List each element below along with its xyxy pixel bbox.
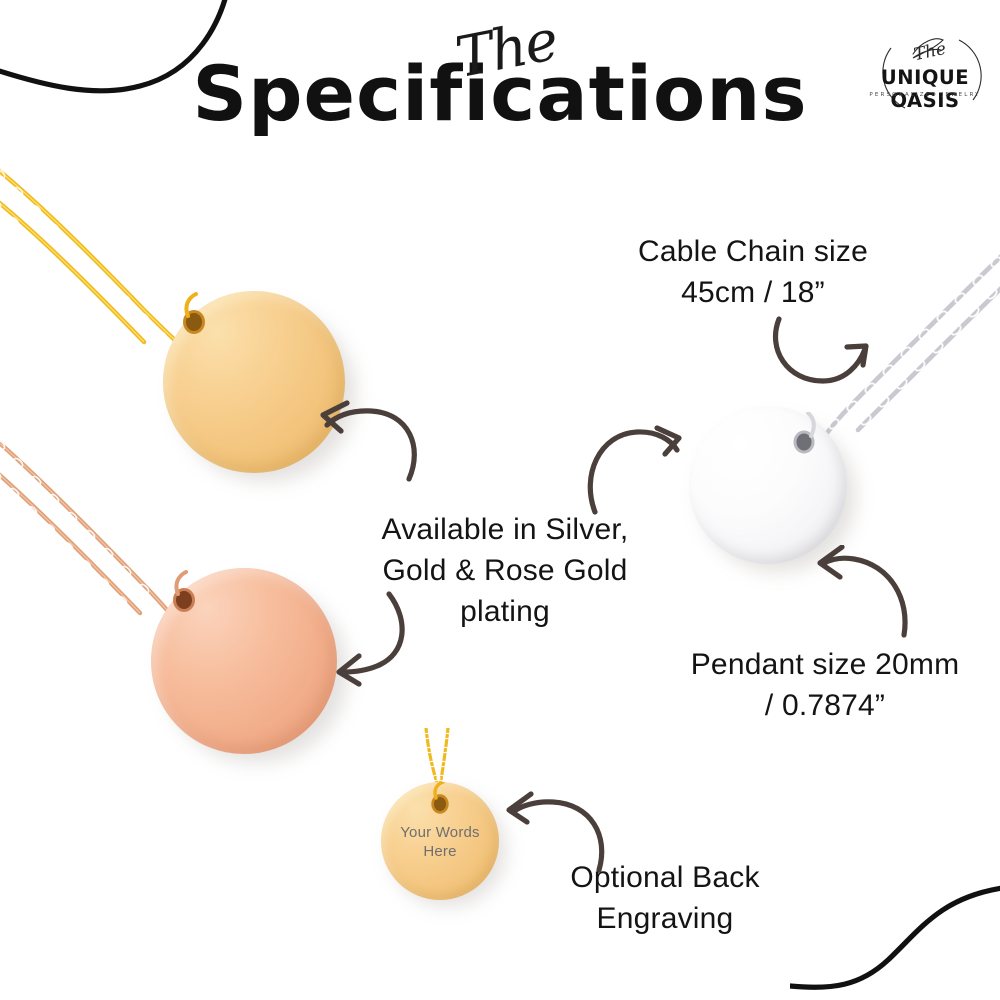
arrow-to-silver-pendant: [585, 420, 695, 520]
gold-pendant-bail: [168, 292, 222, 348]
annotation-plating-options: Available in Silver, Gold & Rose Gold pl…: [345, 510, 665, 632]
specifications-graphic: The Specifications The UNIQUE OASIS PERS…: [0, 0, 1000, 1000]
arrow-to-pendant-size: [810, 545, 920, 645]
logo-tagline: PERSONALIZED JEWELRY: [855, 92, 995, 98]
annotation-cable-chain-size: Cable Chain size 45cm / 18”: [583, 232, 923, 314]
decorative-swirl-bottom-right: [790, 850, 1000, 1000]
silver-pendant-bail: [786, 412, 842, 468]
brand-logo: The UNIQUE OASIS PERSONALIZED JEWELRY: [855, 28, 995, 120]
page-header: The Specifications: [0, 22, 1000, 132]
annotation-optional-back-engraving: Optional Back Engraving: [530, 858, 800, 940]
annotation-pendant-size: Pendant size 20mm / 0.7874”: [650, 645, 1000, 727]
engraved-pendant-bail: [424, 782, 468, 824]
logo-brand-name: UNIQUE OASIS: [855, 66, 995, 112]
pendant-engraving-text: Your Words Here: [381, 824, 499, 862]
rose-gold-pendant-bail: [158, 570, 212, 626]
